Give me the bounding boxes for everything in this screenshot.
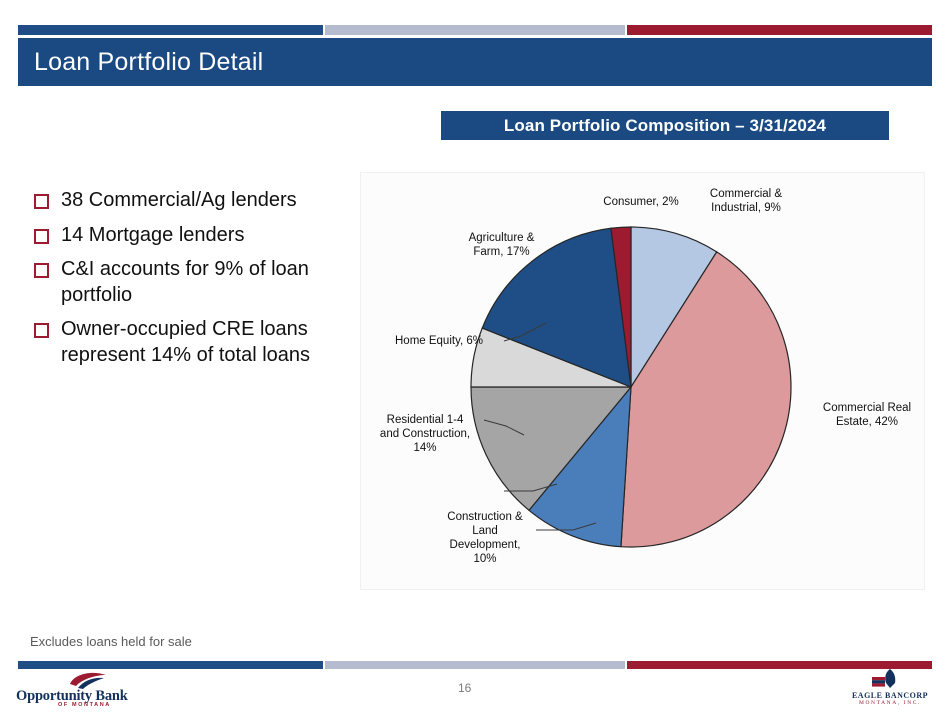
- square-bullet-icon: [34, 263, 49, 278]
- eagle-flag-icon: [868, 668, 912, 690]
- page-title: Loan Portfolio Detail: [18, 48, 263, 77]
- top-accent-bar: [18, 25, 932, 35]
- chart-title-banner: Loan Portfolio Composition – 3/31/2024: [441, 111, 889, 140]
- pie-label-home-equity: Home Equity, 6%: [367, 334, 483, 348]
- bullet-text: 38 Commercial/Ag lenders: [61, 188, 297, 214]
- opportunity-bank-logo: Opportunity Bank OF MONTANA: [14, 672, 204, 710]
- pie-slice-group: [471, 227, 791, 547]
- eagle-bancorp-tagline: MONTANA, INC.: [838, 700, 942, 706]
- pie-label-commercial-industrial: Commercial & Industrial, 9%: [691, 187, 801, 215]
- opportunity-bank-mark-icon: [66, 670, 110, 690]
- accent-segment-red: [627, 25, 932, 35]
- accent-segment-gray: [325, 25, 625, 35]
- bullet-text: C&I accounts for 9% of loan portfolio: [61, 257, 364, 308]
- pie-label-commercial-real-estate: Commercial Real Estate, 42%: [813, 401, 921, 429]
- list-item: 38 Commercial/Ag lenders: [34, 188, 364, 214]
- bullet-text: Owner-occupied CRE loans represent 14% o…: [61, 317, 364, 368]
- bullet-list: 38 Commercial/Ag lenders 14 Mortgage len…: [34, 188, 364, 378]
- bottom-accent-bar: [18, 661, 932, 669]
- eagle-bancorp-logo: EAGLE BANCORP MONTANA, INC.: [838, 668, 942, 710]
- pie-chart-area: Consumer, 2% Commercial & Industrial, 9%…: [360, 172, 925, 590]
- slide-title-band: Loan Portfolio Detail: [18, 38, 932, 86]
- square-bullet-icon: [34, 323, 49, 338]
- eagle-bancorp-name: EAGLE BANCORP: [838, 691, 942, 700]
- list-item: C&I accounts for 9% of loan portfolio: [34, 257, 364, 308]
- opportunity-bank-tagline: OF MONTANA: [58, 702, 111, 708]
- accent-segment-blue: [18, 25, 323, 35]
- square-bullet-icon: [34, 194, 49, 209]
- accent-segment-blue: [18, 661, 323, 669]
- accent-segment-gray: [325, 661, 625, 669]
- pie-label-construction-land: Construction & Land Development, 10%: [433, 510, 537, 566]
- pie-label-consumer: Consumer, 2%: [591, 195, 691, 209]
- pie-label-agriculture-farm: Agriculture & Farm, 17%: [449, 231, 554, 259]
- pie-label-residential: Residential 1-4 and Construction, 14%: [366, 413, 484, 455]
- chart-title: Loan Portfolio Composition – 3/31/2024: [504, 116, 826, 136]
- square-bullet-icon: [34, 229, 49, 244]
- footnote: Excludes loans held for sale: [30, 634, 192, 649]
- list-item: 14 Mortgage lenders: [34, 223, 364, 249]
- bullet-text: 14 Mortgage lenders: [61, 223, 244, 249]
- page-number: 16: [458, 681, 471, 695]
- list-item: Owner-occupied CRE loans represent 14% o…: [34, 317, 364, 368]
